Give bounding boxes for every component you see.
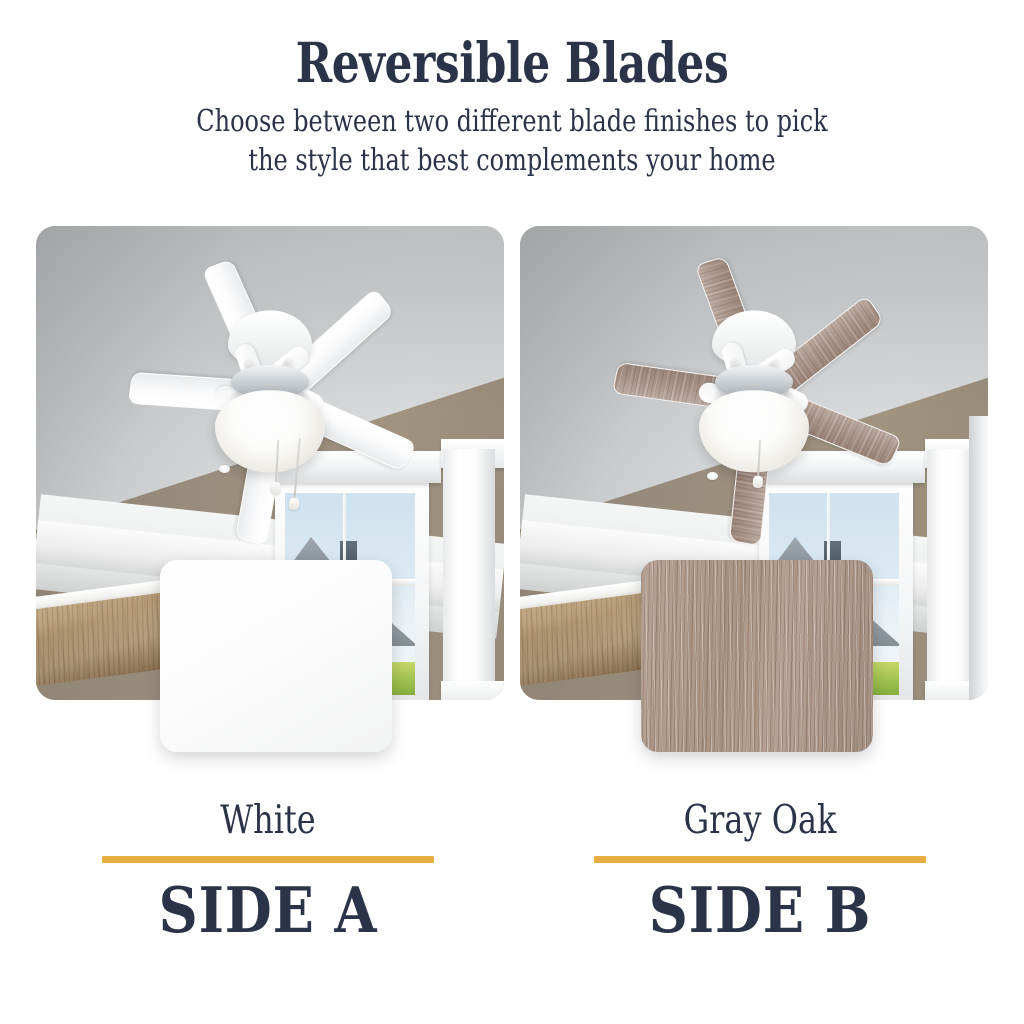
ceiling-fan-white <box>70 252 470 512</box>
header: Reversible Blades Choose between two dif… <box>0 0 1024 179</box>
subtitle-line-1: Choose between two different blade finis… <box>102 92 921 141</box>
side-label-b: SIDE B <box>614 877 906 943</box>
subtitle-line-2: the style that best complements your hom… <box>102 141 921 180</box>
light-kit-bowl <box>215 391 325 473</box>
page-title: Reversible Blades <box>102 0 921 92</box>
column-secondary <box>969 416 988 700</box>
gold-divider <box>102 856 434 863</box>
option-side-a: White SIDE A <box>98 800 438 943</box>
ceiling-marker <box>219 465 230 473</box>
finish-name-side-a: White <box>129 800 408 843</box>
pull-chain-knob[interactable] <box>270 482 281 495</box>
pull-chain-knob[interactable] <box>753 476 764 489</box>
pull-chain-knob[interactable] <box>289 498 300 511</box>
gray-oak-blade-swatch[interactable] <box>641 560 873 752</box>
side-label-a: SIDE A <box>122 877 414 943</box>
infographic-root: Reversible Blades Choose between two dif… <box>0 0 1024 1024</box>
white-blade-swatch[interactable] <box>160 560 392 752</box>
option-side-b: Gray Oak SIDE B <box>590 800 930 943</box>
light-kit-bowl <box>699 391 809 473</box>
column-base <box>441 681 504 700</box>
ceiling-fan-gray-oak <box>554 252 954 512</box>
gold-divider <box>594 856 926 863</box>
finish-name-side-b: Gray Oak <box>621 800 900 843</box>
